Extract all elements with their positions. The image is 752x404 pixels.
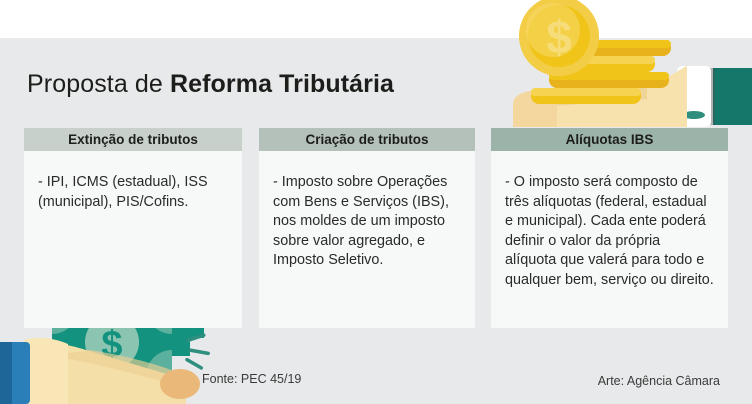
card-header: Extinção de tributos xyxy=(24,128,242,151)
card-aliquotas-ibs: Alíquotas IBS - O imposto será composto … xyxy=(491,128,728,328)
card-header: Alíquotas IBS xyxy=(491,128,728,151)
card-criacao-de-tributos: Criação de tributos - Imposto sobre Oper… xyxy=(259,128,475,328)
card-header: Criação de tributos xyxy=(259,128,475,151)
card-body: - O imposto será composto de três alíquo… xyxy=(491,151,728,328)
card-extincao-de-tributos: Extinção de tributos - IPI, ICMS (estadu… xyxy=(24,128,242,328)
page-title: Proposta de Reforma Tributária xyxy=(27,70,394,99)
source-credit: Fonte: PEC 45/19 xyxy=(202,372,301,386)
art-credit: Arte: Agência Câmara xyxy=(598,374,720,388)
page-title-bold: Reforma Tributária xyxy=(170,70,394,98)
hand-holding-coins-illustration: $ xyxy=(497,0,752,128)
sleeve xyxy=(709,68,752,125)
sleeve xyxy=(0,342,30,404)
card-body: - IPI, ICMS (estadual), ISS (municipal),… xyxy=(24,151,242,328)
card-body: - Imposto sobre Operações com Bens e Ser… xyxy=(259,151,475,328)
page-title-regular: Proposta de xyxy=(27,70,170,98)
coin-dollar-symbol: $ xyxy=(546,11,572,63)
infographic-canvas: $ $ xyxy=(0,0,752,404)
